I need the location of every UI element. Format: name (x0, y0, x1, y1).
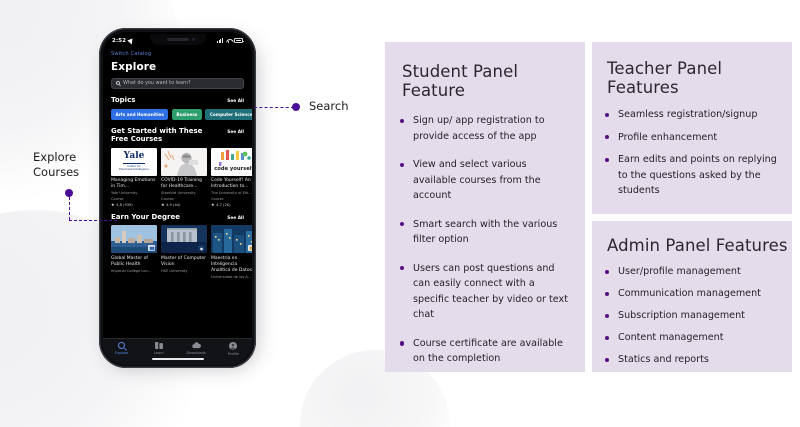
download-cloud-icon (192, 342, 201, 349)
free-courses-section-header: Get Started with These Free Courses See … (111, 127, 244, 144)
admin-feature-list: User/profile management Communication ma… (592, 255, 792, 368)
star-icon: ★ (161, 203, 165, 207)
course-card-provider: The University of Edi... (211, 191, 252, 196)
panel-teacher-features: Teacher Panel Features Seamless registra… (592, 42, 792, 214)
notch-camera (192, 38, 195, 41)
degree-card-provider: Imperial College Lon... (111, 269, 157, 274)
course-card[interactable]: code yourself Code Yourself! An Introduc… (211, 148, 252, 207)
tab-downloads[interactable]: Downloads (178, 342, 215, 355)
degree-card-list: Global Master of Public Health Imperial … (111, 225, 244, 279)
list-item: Course certificate are available on the … (413, 336, 571, 367)
degree-badge (148, 245, 155, 251)
battery-icon (234, 38, 243, 43)
topic-chip-list: Arts and Humanities Business Computer Sc… (111, 109, 244, 120)
books-icon (155, 342, 163, 349)
degrees-see-all-link[interactable]: See All (227, 216, 244, 221)
status-bar-time-group: 2:52 (112, 38, 134, 44)
tab-explore[interactable]: Explore (103, 342, 140, 355)
annotation-explore-courses-line1: Explore (33, 150, 79, 165)
course-card-title: Code Yourself! An Introduction to... (211, 178, 252, 190)
panel-title: Student Panel Feature (385, 42, 585, 100)
list-item: Earn edits and points on replying to the… (618, 152, 780, 199)
degree-card-title: Maestría en Inteligencia Analítica de Da… (211, 256, 252, 273)
night-campus-image (211, 225, 252, 253)
tab-profile[interactable]: Profile (215, 342, 252, 356)
annotation-explore-courses-line2: Courses (33, 165, 79, 180)
university-crest-icon (149, 246, 155, 251)
course-card-type: Course (161, 197, 207, 201)
search-icon (116, 81, 120, 85)
topic-chip[interactable]: Arts and Humanities (111, 109, 168, 120)
degrees-heading: Earn Your Degree (111, 213, 180, 222)
degree-thumbnail-building: ◉ (161, 225, 207, 253)
topics-see-all-link[interactable]: See All (227, 99, 244, 104)
course-card-rating: ★ 4.8 (939) (111, 203, 157, 207)
tab-label: Downloads (187, 351, 206, 355)
course-thumbnail-code: code yourself (211, 148, 252, 176)
degree-badge: ◉ (198, 245, 205, 251)
wifi-icon (226, 38, 232, 43)
list-item: View and select various available course… (413, 157, 571, 204)
tab-label: Explore (115, 351, 128, 355)
list-item: Content management (618, 330, 780, 346)
annotation-leader-search (254, 107, 294, 108)
list-item: Communication management (618, 286, 780, 302)
list-item: User/profile management (618, 264, 780, 280)
search-placeholder: What do you want to learn? (123, 80, 191, 86)
location-arrow-icon (128, 36, 135, 44)
tab-label: Learn (154, 351, 164, 355)
yale-wordmark: Yale (124, 152, 145, 161)
topics-section-header: Topics See All (111, 96, 244, 105)
degree-badge (248, 245, 252, 251)
notch-speaker (167, 38, 189, 41)
list-item: Smart search with the various filter opt… (413, 217, 571, 248)
annotation-explore-courses: Explore Courses (33, 150, 79, 179)
list-item: Profile enhancement (618, 130, 780, 146)
degree-card[interactable]: Maestría en Inteligencia Analítica de Da… (211, 225, 252, 279)
annotation-dot-search (292, 103, 300, 111)
course-card-title: Managing Emotions in Tim... (111, 178, 157, 190)
phone-notch (150, 34, 206, 45)
cellular-signal-icon (217, 38, 223, 43)
list-item: Subscription management (618, 308, 780, 324)
tab-learn[interactable]: Learn (140, 342, 177, 355)
course-card-rating-value: 4.7 (2K) (216, 203, 230, 207)
course-thumbnail-covid (161, 148, 207, 176)
free-courses-see-all-link[interactable]: See All (227, 130, 244, 135)
degree-card-provider: Universidad de los A... (211, 275, 252, 280)
course-card-provider: Yale University (111, 191, 157, 196)
topic-chip[interactable]: Computer Science (205, 109, 252, 120)
status-bar-time: 2:52 (112, 38, 126, 44)
yale-sub2: Emotional Intelligence (119, 168, 149, 171)
course-card-provider: Stanford University (161, 191, 207, 196)
degree-card-provider: HSE University (161, 269, 207, 274)
annotation-leader-explore-horizontal (69, 220, 117, 221)
annotation-leader-explore-vertical (69, 197, 70, 220)
course-card-rating: ★ 4.9 (44) (161, 203, 207, 207)
panel-student-features: Student Panel Feature Sign up/ app regis… (385, 42, 585, 372)
app-content: Switch Catalog Explore What do you want … (103, 47, 252, 280)
phone-frame: 2:52 Switch Catalog Explore What do you … (99, 28, 256, 368)
phone-screen: 2:52 Switch Catalog Explore What do you … (103, 32, 252, 364)
course-card-title: COVID-19 Training for Healthcare... (161, 178, 207, 190)
panel-admin-features: Admin Panel Features User/profile manage… (592, 221, 792, 372)
list-item: Seamless registration/signup (618, 107, 780, 123)
tab-label: Profile (228, 352, 239, 356)
star-icon: ★ (211, 203, 215, 207)
status-bar-indicators (217, 38, 243, 43)
uniandes-crest-icon (249, 246, 253, 251)
search-input[interactable]: What do you want to learn? (111, 78, 244, 89)
list-item: Statics and reports (618, 352, 780, 368)
annotation-dot-explore-courses (65, 189, 73, 197)
course-card[interactable]: Yale Center for Emotional Intelligence M… (111, 148, 157, 207)
list-item: Sign up/ app registration to provide acc… (413, 113, 571, 144)
list-item: Users can post questions and can easily … (413, 261, 571, 323)
course-card[interactable]: COVID-19 Training for Healthcare... Stan… (161, 148, 207, 207)
person-circle-icon (229, 342, 237, 350)
free-courses-heading-line2: Free Courses (111, 135, 162, 143)
star-icon: ★ (111, 203, 115, 207)
search-icon (118, 342, 125, 349)
switch-catalog-link[interactable]: Switch Catalog (111, 51, 244, 57)
degrees-section-header: Earn Your Degree See All (111, 213, 244, 222)
annotation-search: Search (309, 99, 349, 114)
free-courses-heading: Get Started with These Free Courses (111, 127, 202, 144)
degree-card[interactable]: ◉ Master of Computer Vision HSE Universi… (161, 225, 207, 279)
bottom-tab-bar: Explore Learn Downloads (103, 338, 252, 364)
phone-mockup: 2:52 Switch Catalog Explore What do you … (99, 28, 264, 373)
code-yourself-wordmark: code yourself (211, 166, 252, 172)
free-course-card-list: Yale Center for Emotional Intelligence M… (111, 148, 244, 207)
degree-card-title: Master of Computer Vision (161, 256, 207, 268)
course-card-rating-value: 4.9 (44) (166, 203, 180, 207)
degree-card[interactable]: Global Master of Public Health Imperial … (111, 225, 157, 279)
panel-title: Teacher Panel Features (592, 42, 792, 97)
degree-thumbnail-night (211, 225, 252, 253)
panel-title: Admin Panel Features (592, 221, 792, 255)
course-thumbnail-yale: Yale Center for Emotional Intelligence (111, 148, 157, 176)
topic-chip[interactable]: Business (172, 109, 202, 120)
course-card-rating-value: 4.8 (939) (116, 203, 133, 207)
page-title: Explore (111, 61, 244, 73)
hse-logo-icon: ◉ (200, 246, 204, 251)
degree-thumbnail-city (111, 225, 157, 253)
degree-card-title: Global Master of Public Health (111, 256, 157, 268)
covid-illustration-icon (161, 148, 207, 176)
course-card-type: Course (211, 197, 252, 201)
student-feature-list: Sign up/ app registration to provide acc… (385, 100, 585, 367)
free-courses-heading-line1: Get Started with These (111, 127, 202, 135)
course-card-type: Course (111, 197, 157, 201)
teacher-feature-list: Seamless registration/signup Profile enh… (592, 97, 792, 199)
topics-heading: Topics (111, 96, 135, 105)
home-indicator (152, 358, 204, 360)
course-card-rating: ★ 4.7 (2K) (211, 203, 252, 207)
